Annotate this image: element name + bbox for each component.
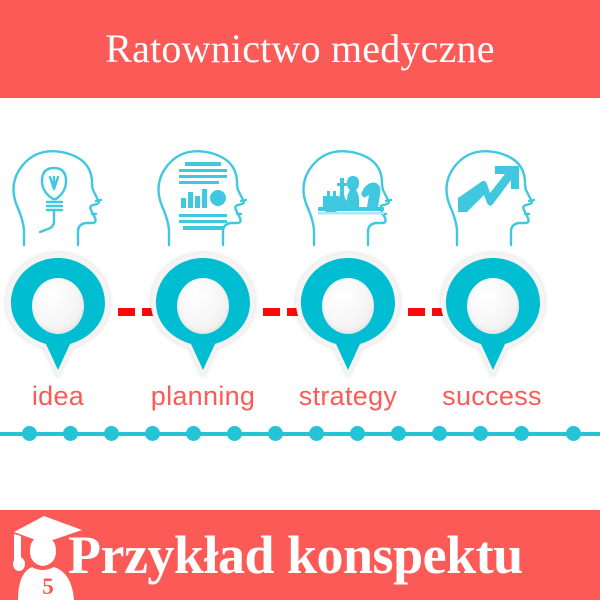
infographic-body: idea planning strategy success [0,98,600,510]
dash-segment [118,308,135,316]
pin-marker-row [0,253,600,378]
pin-inner-circle [467,278,519,334]
timeline-dot [63,426,78,441]
step-pin-planning[interactable] [151,253,255,378]
svg-text:5: 5 [42,574,54,599]
head-document-chart-icon [145,144,265,249]
step-label-strategy: strategy [268,380,428,414]
dash-segment [263,308,280,316]
top-banner: Ratownictwo medyczne [0,0,600,98]
bottom-banner: 5 Przykład konspektu [0,510,600,600]
step-label-success: success [412,380,572,414]
timeline-strip [0,426,600,442]
step-pin-success[interactable] [441,253,545,378]
timeline-dot [227,426,242,441]
dash-segment [408,308,425,316]
step-label-row: idea planning strategy success [0,380,600,420]
timeline-dot [350,426,365,441]
pin-inner-circle [177,278,229,334]
timeline-line [0,432,600,436]
footer-title: Przykład konspektu [68,510,523,600]
timeline-dot [186,426,201,441]
timeline-dot [566,426,581,441]
head-growth-arrow-icon [433,144,553,249]
head-lightbulb-icon [0,144,120,249]
timeline-dot [22,426,37,441]
timeline-dot [432,426,447,441]
step-pin-strategy[interactable] [296,253,400,378]
head-icon-row [0,144,600,249]
timeline-dot [309,426,324,441]
step-label-idea: idea [0,380,138,414]
pin-inner-circle [322,278,374,334]
pin-inner-circle [32,278,84,334]
step-pin-idea[interactable] [6,253,110,378]
timeline-dot [514,426,529,441]
timeline-dot [145,426,160,441]
head-chess-icon [290,144,410,249]
timeline-dot [268,426,283,441]
step-label-planning: planning [123,380,283,414]
timeline-dot [104,426,119,441]
page-title: Ratownictwo medyczne [105,29,494,69]
timeline-dot [391,426,406,441]
timeline-dot [473,426,488,441]
